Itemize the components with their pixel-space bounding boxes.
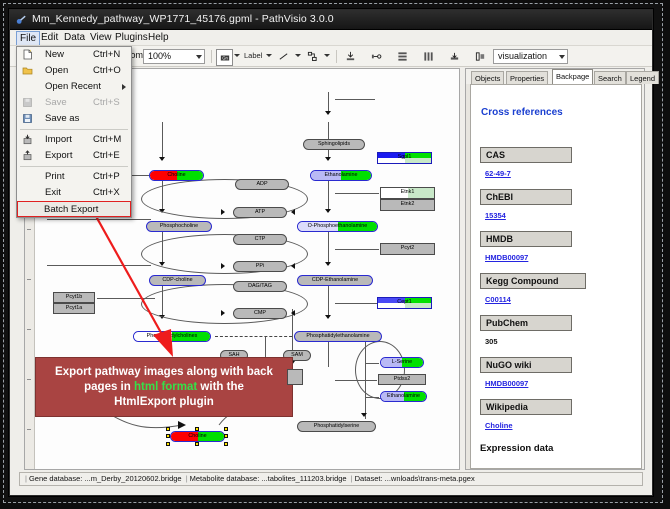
tab-legend[interactable]: Legend	[626, 71, 659, 84]
line-dropdown-arrow[interactable]	[295, 54, 301, 57]
file-menu-dropdown: New Ctrl+N Open Ctrl+O Open Recent Save	[16, 46, 132, 218]
node-sphingolipids[interactable]: Sphingolipids	[303, 139, 365, 150]
status-gene-db-label: Gene database:	[29, 474, 82, 483]
xref-source-hmdb: HMDB	[480, 231, 572, 247]
callout-line-3: HtmlExport plugin	[114, 395, 214, 410]
order-button[interactable]	[447, 49, 462, 64]
tab-backpage[interactable]: Backpage	[552, 69, 593, 84]
align-center-icon	[371, 51, 382, 62]
menu-item-new[interactable]: New Ctrl+N	[17, 47, 131, 63]
xref-source-kegg: Kegg Compound	[480, 273, 586, 289]
menu-divider	[20, 166, 128, 167]
selection-handle[interactable]	[224, 427, 228, 431]
node-o-phosphoethanolamine[interactable]: O-Phosphoethanolamine	[297, 221, 378, 232]
gene-sgpl1[interactable]: Sgpl1	[377, 152, 432, 164]
selection-handle[interactable]	[224, 434, 228, 438]
align-top-button[interactable]	[343, 49, 358, 64]
node-phosphatidylserine[interactable]: Phosphatidylserine	[297, 421, 376, 432]
xref-value-cas[interactable]: 62-49-7	[485, 169, 511, 178]
node-adp[interactable]: ADP	[235, 179, 289, 190]
callout-line-2a: pages in	[84, 381, 134, 393]
align-top-icon	[345, 51, 356, 62]
menu-item-print[interactable]: Print Ctrl+P	[17, 169, 131, 185]
xref-value-kegg[interactable]: C00114	[485, 295, 511, 304]
order-icon	[449, 51, 460, 62]
screen-root: Mm_Kennedy_pathway_WP1771_45176.gpml - P…	[0, 0, 670, 509]
title-bar: Mm_Kennedy_pathway_WP1771_45176.gpml - P…	[10, 10, 652, 30]
selection-handle[interactable]	[166, 442, 170, 446]
menu-item-save: Save Ctrl+S	[17, 95, 131, 111]
interaction-dropdown-arrow[interactable]	[324, 54, 330, 57]
menu-item-save-as[interactable]: Save as	[17, 111, 131, 127]
xref-source-pubchem: PubChem	[480, 315, 572, 331]
xref-source-chebi: ChEBI	[480, 189, 572, 205]
tab-properties[interactable]: Properties	[506, 71, 548, 84]
new-file-icon	[22, 49, 33, 60]
visualization-combo[interactable]: visualization	[493, 49, 568, 64]
selection-handle[interactable]	[195, 427, 199, 431]
menu-help[interactable]: Help	[144, 31, 173, 45]
status-bar: |Gene database: ...m_Derby_20120602.brid…	[19, 472, 643, 486]
chevron-down-icon	[559, 55, 565, 59]
visualization-value: visualization	[498, 51, 547, 61]
gene-cept1[interactable]: Cept1	[377, 297, 432, 309]
node-ethanolamine-bottom[interactable]: Ethanolamine	[380, 391, 427, 402]
selection-handle[interactable]	[166, 434, 170, 438]
callout-line-2: pages in html format with the	[84, 380, 244, 395]
xref-source-cas: CAS	[480, 147, 572, 163]
datanode-button[interactable]: Gn	[216, 49, 233, 66]
xref-source-nugo: NuGO wiki	[480, 357, 572, 373]
xref-value-wikipedia[interactable]: Choline	[485, 421, 513, 430]
visualization-icon	[475, 51, 486, 62]
xref-value-hmdb[interactable]: HMDB00097	[485, 253, 528, 262]
callout-highlight: html format	[134, 381, 197, 393]
node-choline[interactable]: Choline	[149, 170, 204, 181]
save-disk-icon	[22, 97, 33, 108]
gene-etnk2[interactable]: Etnk2	[380, 199, 435, 211]
interaction-button[interactable]	[305, 49, 320, 64]
line-button[interactable]	[276, 49, 291, 64]
distribute-button[interactable]	[421, 49, 436, 64]
node-cdp-ethanolamine[interactable]: CDP-Ethanolamine	[297, 275, 373, 286]
xref-value-pubchem: 305	[485, 337, 498, 346]
menu-bar: File Edit Data View Plugins Help	[10, 30, 652, 46]
zoom-value: 100%	[148, 51, 171, 61]
node-l-serine[interactable]: L-Serine	[380, 357, 424, 368]
menu-item-open-recent[interactable]: Open Recent	[17, 79, 131, 95]
export-icon	[22, 150, 33, 161]
node-choline-selected[interactable]: Choline	[164, 425, 231, 448]
stack-button[interactable]	[395, 49, 410, 64]
xref-source-wikipedia: Wikipedia	[480, 399, 572, 415]
node-phosphatidylethanolamine[interactable]: Phosphatidylethanolamine	[294, 331, 382, 342]
backpage-content: Cross references CAS 62-49-7 ChEBI 15354…	[470, 84, 642, 469]
node-ppi[interactable]: PPi	[233, 261, 287, 272]
distribute-icon	[423, 51, 434, 62]
gene-etnk1[interactable]: Etnk1	[380, 187, 435, 199]
chevron-down-icon	[196, 55, 202, 59]
menu-item-batch-export[interactable]: Batch Export	[17, 201, 131, 217]
menu-item-exit[interactable]: Exit Ctrl+X	[17, 185, 131, 201]
label-button[interactable]: Label	[244, 51, 262, 60]
interaction-icon	[307, 51, 318, 62]
menu-item-export[interactable]: Export Ctrl+E	[17, 148, 131, 164]
save-as-icon	[22, 113, 33, 124]
selection-handle[interactable]	[195, 442, 199, 446]
zoom-combo[interactable]: 100%	[143, 49, 205, 64]
tab-objects[interactable]: Objects	[471, 71, 504, 84]
datanode-dropdown-arrow[interactable]	[234, 54, 240, 57]
open-folder-icon	[22, 65, 33, 76]
node-ethanolamine-top[interactable]: Ethanolamine	[310, 170, 372, 181]
node-atp[interactable]: ATP	[233, 207, 287, 218]
node-connector-block[interactable]	[287, 369, 303, 385]
expression-data-heading: Expression data	[480, 443, 553, 454]
menu-item-open[interactable]: Open Ctrl+O	[17, 63, 131, 79]
stack-icon	[397, 51, 408, 62]
window-title: Mm_Kennedy_pathway_WP1771_45176.gpml - P…	[32, 13, 334, 25]
callout-line-2c: with the	[197, 381, 244, 393]
status-metabolite-db-label: Metabolite database:	[190, 474, 260, 483]
cross-references-heading: Cross references	[481, 107, 563, 118]
svg-text:Gn: Gn	[222, 55, 228, 60]
submenu-arrow-icon	[122, 84, 126, 90]
xref-value-nugo[interactable]: HMDB00097	[485, 379, 528, 388]
pathvisio-window: Mm_Kennedy_pathway_WP1771_45176.gpml - P…	[9, 9, 653, 496]
menu-edit[interactable]: Edit	[37, 31, 62, 45]
line-icon	[278, 51, 289, 62]
side-panel: Objects Properties Backpage Search Legen…	[465, 68, 645, 470]
selection-handle[interactable]	[224, 442, 228, 446]
status-dataset-value: ...wnloads\trans-meta.pgex	[385, 474, 475, 483]
menu-data[interactable]: Data	[60, 31, 89, 45]
menu-divider	[20, 129, 128, 130]
selection-handle[interactable]	[166, 427, 170, 431]
datanode-icon: Gn	[220, 53, 230, 63]
menu-item-import[interactable]: Import Ctrl+M	[17, 132, 131, 148]
node-cmp[interactable]: CMP	[233, 308, 287, 319]
callout-line-1: Export pathway images along with back	[55, 365, 273, 380]
gene-pcyt2[interactable]: Pcyt2	[380, 243, 435, 255]
align-center-button[interactable]	[369, 49, 384, 64]
gene-ptdss2[interactable]: Ptdss2	[378, 374, 426, 385]
node-ctp[interactable]: CTP	[233, 234, 287, 245]
status-gene-db-value: ...m_Derby_20120602.bridge	[84, 474, 181, 483]
side-panel-tabs: Objects Properties Backpage Search Legen…	[466, 69, 644, 84]
status-metabolite-db-value: ...tabolites_111203.bridge	[261, 474, 346, 483]
pathvisio-app-icon	[16, 14, 27, 25]
xref-value-chebi[interactable]: 15354	[485, 211, 506, 220]
tab-search[interactable]: Search	[594, 71, 626, 84]
status-dataset-label: Dataset:	[355, 474, 383, 483]
annotation-callout: Export pathway images along with back pa…	[35, 357, 293, 417]
visualization-toggle-button[interactable]	[473, 49, 488, 64]
label-dropdown-arrow[interactable]	[266, 54, 272, 57]
node-dag-tag[interactable]: DAG/TAG	[233, 281, 287, 292]
import-icon	[22, 134, 33, 145]
